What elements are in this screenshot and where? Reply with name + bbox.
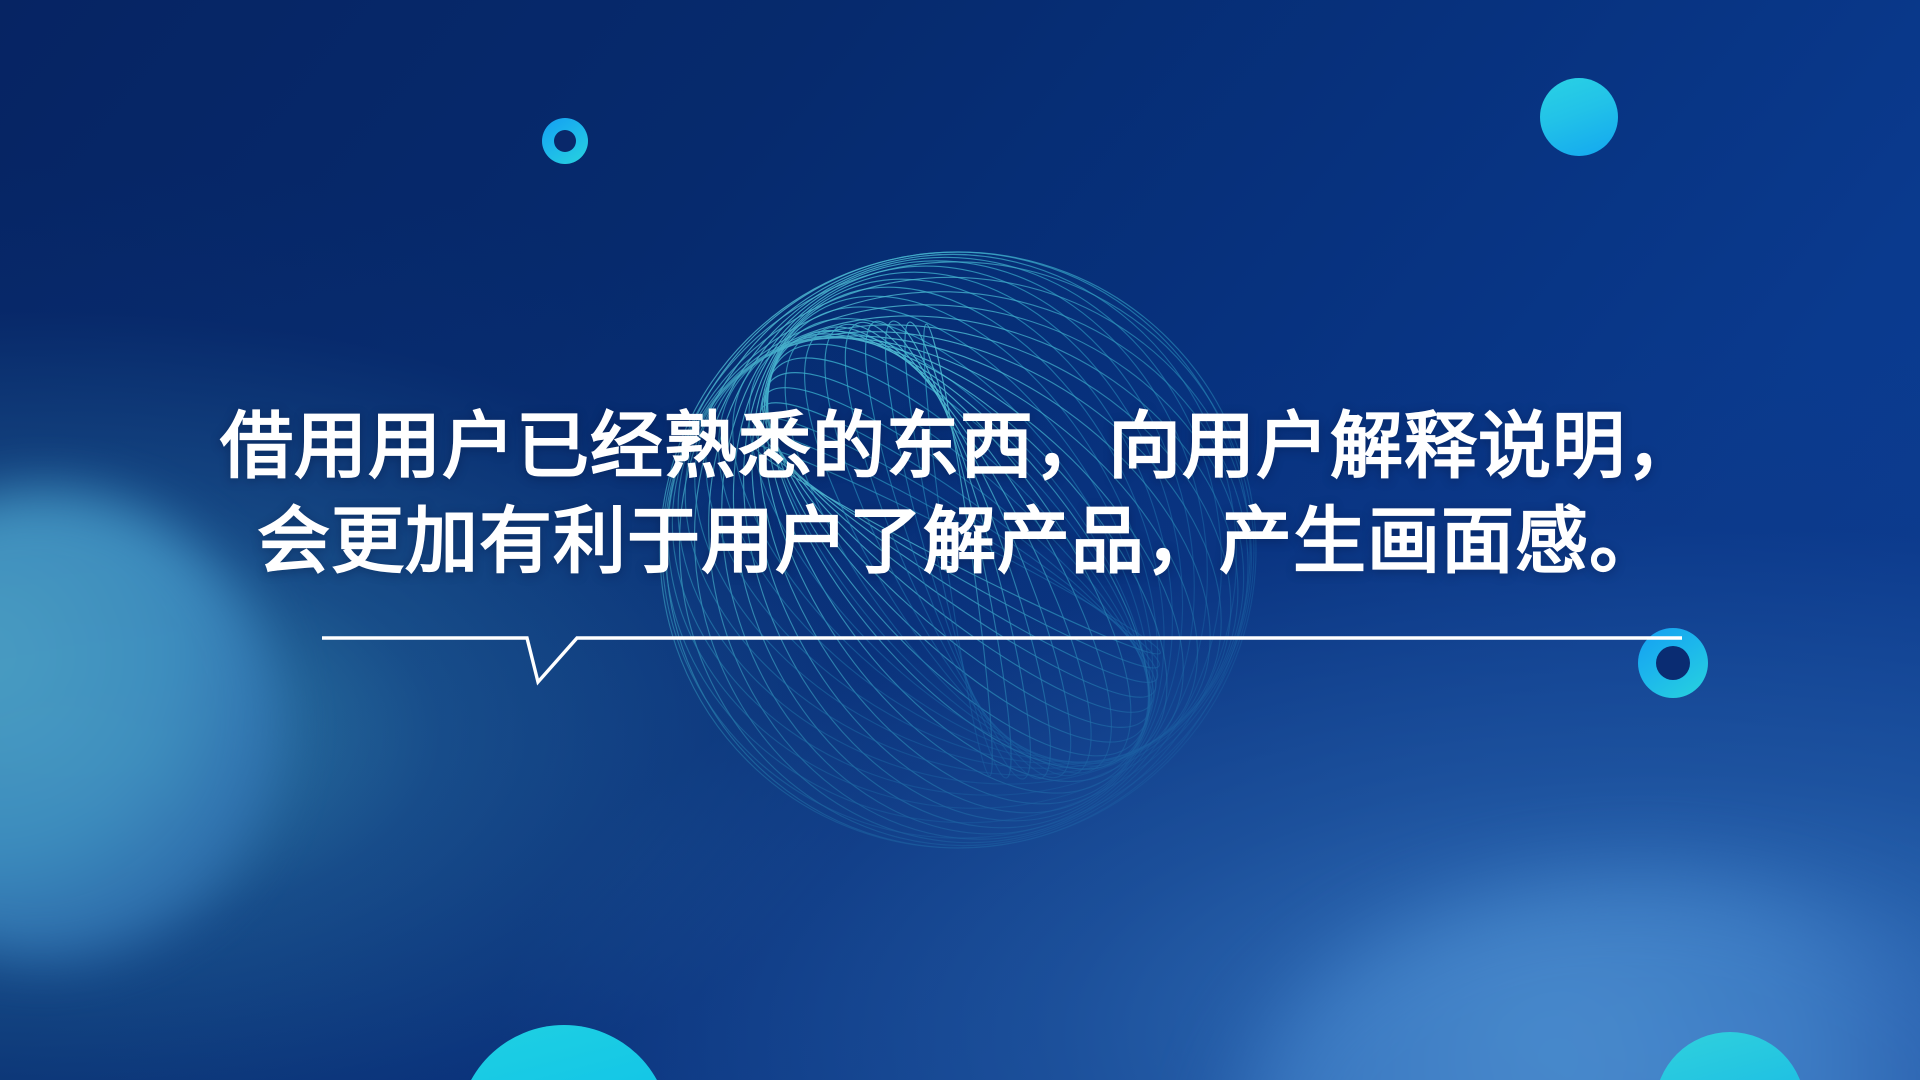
circle-icon-top-right [1540,78,1618,156]
circle-icon-bottom-left [458,1025,670,1080]
ring-icon-right [1638,628,1708,698]
page-title: 借用用户已经熟悉的东西，向用户解释说明， 会更加有利于用户了解产品，产生画面感。 [0,400,1920,590]
circle-icon-bottom-right [1655,1032,1805,1080]
underline-with-notch [322,620,1682,690]
blurred-circle-bottom-right [1230,880,1920,1080]
ring-icon-top-left [542,118,588,164]
slide-canvas: 借用用户已经熟悉的东西，向用户解释说明， 会更加有利于用户了解产品，产生画面感。 [0,0,1920,1080]
